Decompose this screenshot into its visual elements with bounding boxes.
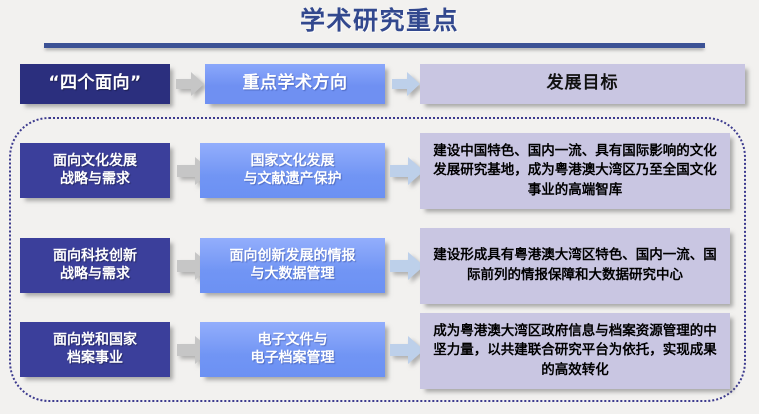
row-2-field: 面向创新发展的情报 与大数据管理 bbox=[200, 238, 385, 293]
arrow-right-icon-header-1 bbox=[176, 72, 204, 96]
row-3-field: 电子文件与 电子档案管理 bbox=[200, 322, 385, 377]
row-3-direction: 面向党和国家 档案事业 bbox=[20, 322, 170, 377]
header-col-key-academic-directions: 重点学术方向 bbox=[205, 64, 385, 104]
row-2-direction: 面向科技创新 战略与需求 bbox=[20, 238, 170, 293]
row-1-direction: 面向文化发展 战略与需求 bbox=[20, 143, 170, 198]
header-col-four-orientations: “四个面向” bbox=[20, 64, 170, 104]
arrow-right-icon-header-2 bbox=[392, 72, 420, 96]
page-title: 学术研究重点 bbox=[0, 4, 759, 38]
row-1-field: 国家文化发展 与文献遗产保护 bbox=[200, 143, 385, 198]
row-2-goal: 建设形成具有粤港澳大湾区特色、国内一流、国际前列的情报保障和大数据研究中心 bbox=[420, 228, 730, 304]
arrow-right-icon-row-1-b bbox=[390, 157, 424, 185]
header-col-development-goals: 发展目标 bbox=[420, 64, 745, 104]
row-3-goal: 成为粤港澳大湾区政府信息与档案资源管理的中坚力量，以共建联合研究平台为依托，实现… bbox=[420, 313, 730, 389]
arrow-right-icon-row-2-b bbox=[390, 252, 424, 280]
arrow-right-icon-row-3-b bbox=[390, 336, 424, 364]
slide-canvas: 学术研究重点 “四个面向” 重点学术方向 发展目标 面向文化发展 战略与需求 国… bbox=[0, 0, 759, 414]
title-divider-rule bbox=[44, 43, 705, 48]
row-1-goal: 建设中国特色、国内一流、具有国际影响的文化发展研究基地，成为粤港澳大湾区乃至全国… bbox=[420, 133, 730, 209]
